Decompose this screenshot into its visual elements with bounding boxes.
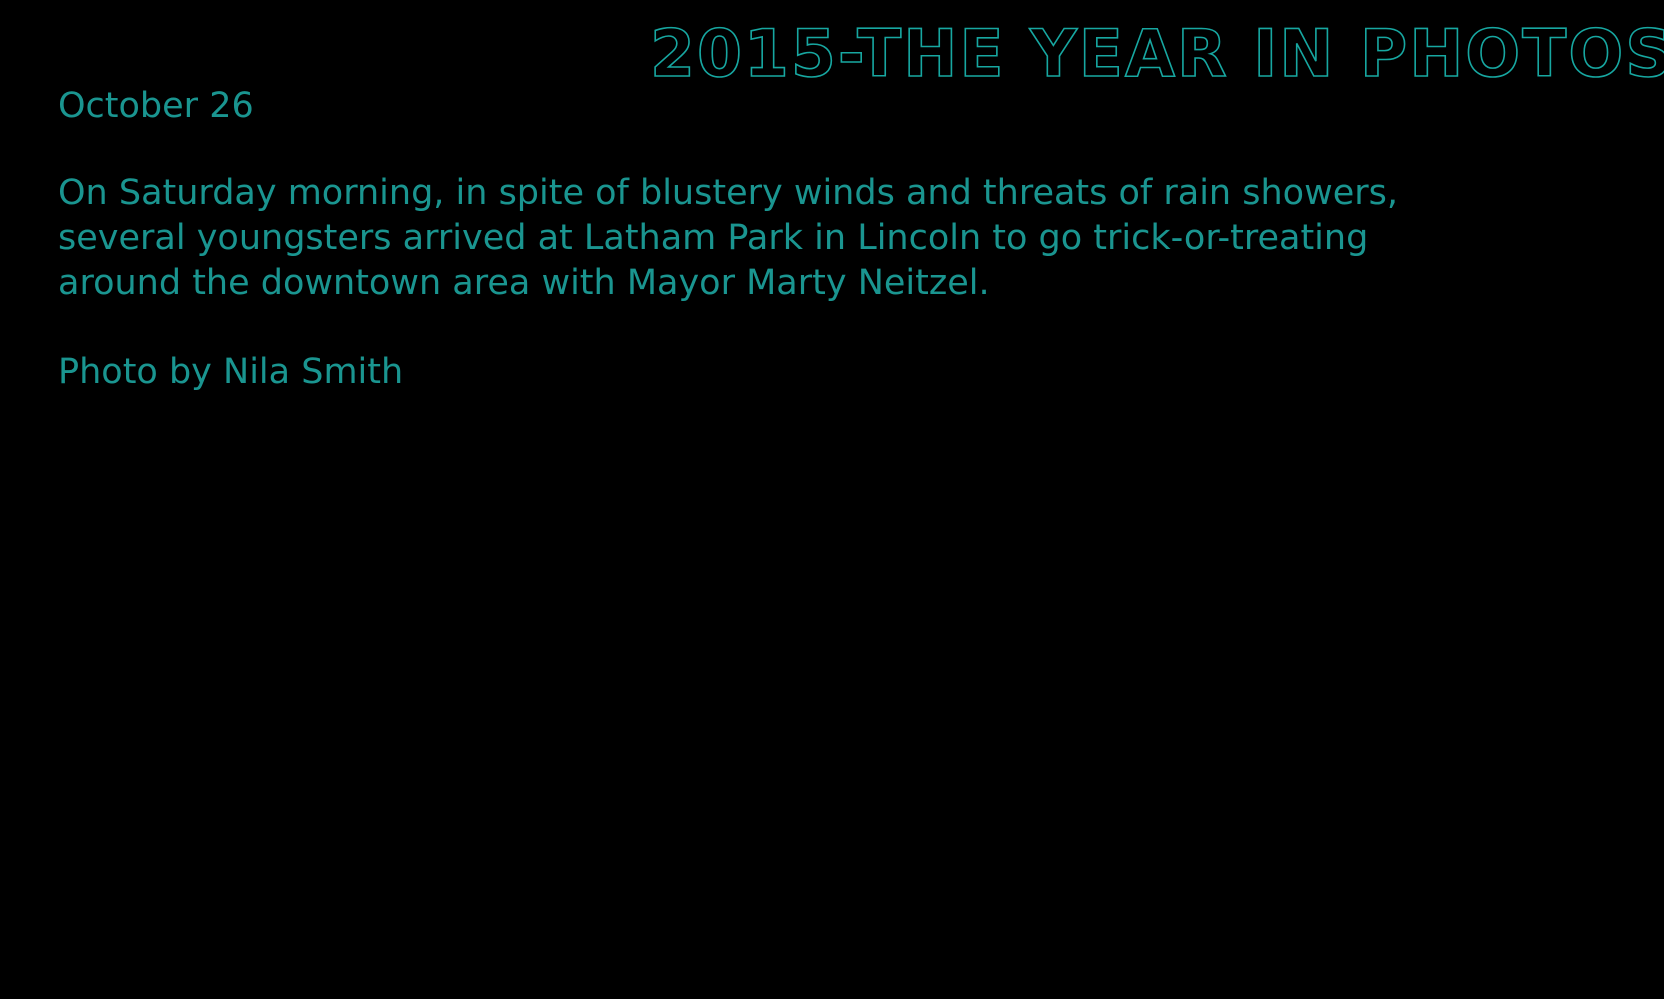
- banner-title-outline: 2015-THE YEAR IN PHOTOS: [650, 17, 1664, 92]
- photo-credit: Photo by Nila Smith: [58, 350, 1458, 394]
- banner-title-graphic: 2015-THE YEAR IN PHOTOS 2015-THE YEAR IN…: [648, 14, 1664, 92]
- banner-title: 2015-THE YEAR IN PHOTOS 2015-THE YEAR IN…: [648, 14, 1664, 92]
- caption-date: October 26: [58, 84, 1458, 128]
- spacer-before-credit: [58, 306, 1458, 350]
- caption-block: October 26 On Saturday morning, in spite…: [58, 84, 1458, 394]
- caption-paragraph-line-1: On Saturday morning, in spite of bluster…: [58, 171, 1458, 216]
- caption-paragraph-line-2: several youngsters arrived at Latham Par…: [58, 216, 1458, 261]
- caption-paragraph: On Saturday morning, in spite of bluster…: [58, 171, 1458, 306]
- caption-paragraph-line-3: around the downtown area with Mayor Mart…: [58, 261, 1458, 306]
- spacer-after-date: [58, 128, 1458, 171]
- slide-canvas: 2015-THE YEAR IN PHOTOS 2015-THE YEAR IN…: [0, 0, 1664, 999]
